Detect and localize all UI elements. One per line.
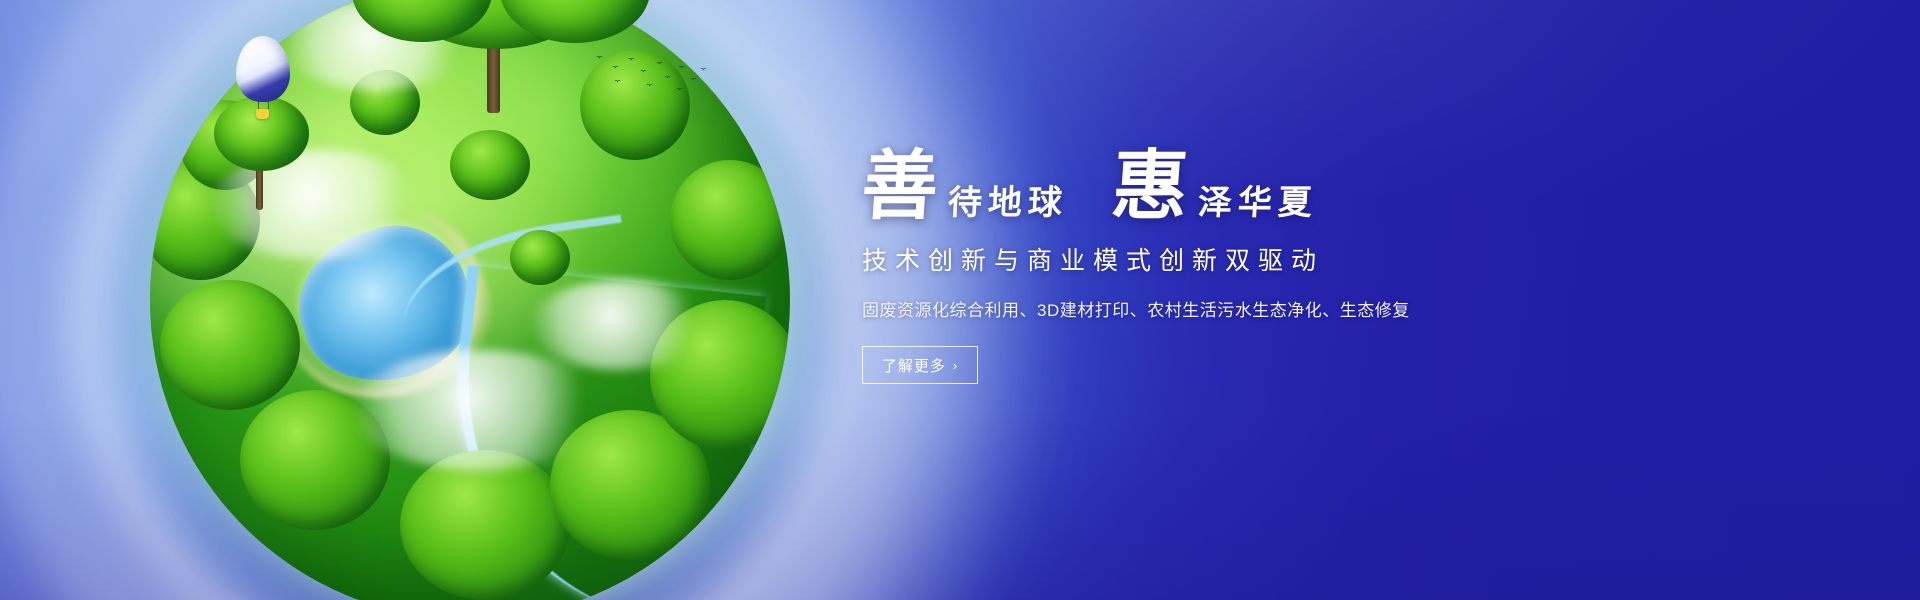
planet-mist	[350, 350, 610, 470]
chevron-right-icon: ›	[953, 358, 958, 373]
planet-mist	[530, 280, 710, 370]
bird-icon	[690, 78, 697, 82]
forest-bush	[160, 280, 300, 410]
bird-icon	[676, 88, 683, 92]
balloon-basket	[256, 109, 269, 119]
headline-big-2: 惠	[1109, 148, 1190, 224]
bird-icon	[612, 66, 619, 70]
headline-small-1: 待地球	[947, 186, 1069, 220]
banner-copy: 善 待地球 惠 泽华夏 技术创新与商业模式创新双驱动 固废资源化综合利用、3D建…	[862, 128, 1622, 384]
forest-bush	[400, 450, 570, 600]
headline: 善 待地球 惠 泽华夏	[862, 128, 1622, 224]
forest-bush	[670, 160, 790, 280]
bird-icon	[596, 56, 603, 60]
learn-more-button[interactable]: 了解更多 ›	[862, 346, 978, 384]
forest-bush	[580, 50, 690, 160]
bird-icon	[678, 66, 685, 70]
tree-crown	[214, 96, 309, 171]
forest-bush	[510, 230, 570, 285]
subheadline: 技术创新与商业模式创新双驱动	[862, 246, 1622, 276]
learn-more-label: 了解更多	[882, 355, 946, 376]
bird-icon	[656, 62, 663, 66]
description-text: 固废资源化综合利用、3D建材打印、农村生活污水生态净化、生态修复	[862, 300, 1622, 322]
forest-bush	[450, 130, 530, 200]
headline-big-1: 善	[859, 148, 940, 224]
bird-icon	[646, 84, 653, 88]
bird-icon	[700, 68, 707, 72]
bird-icon	[628, 58, 635, 62]
bird-icon	[640, 70, 647, 74]
bird-icon	[664, 76, 671, 80]
hero-banner: 善 待地球 惠 泽华夏 技术创新与商业模式创新双驱动 固废资源化综合利用、3D建…	[0, 0, 1920, 600]
bird-icon	[614, 80, 621, 84]
headline-small-2: 泽华夏	[1197, 186, 1319, 220]
